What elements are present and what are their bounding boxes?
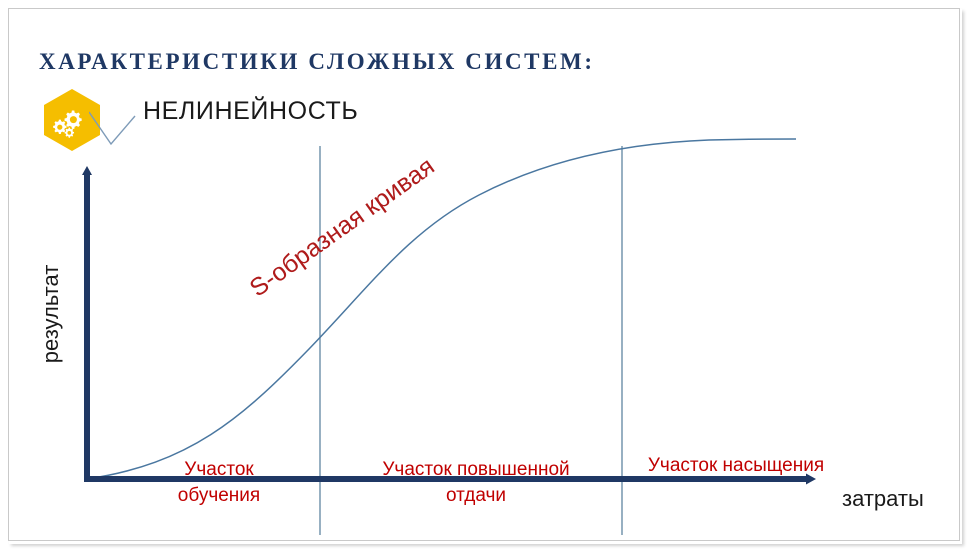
zone-label-saturation-line1: Участок насыщения [621, 453, 851, 479]
zone-label-learning-line2: обучения [119, 483, 319, 509]
y-axis-label: результат [38, 234, 64, 394]
slide-canvas: ХАРАКТЕРИСТИКИ СЛОЖНЫХ СИСТЕМ: НЕЛИНЕЙНО… [0, 0, 970, 553]
page-title: ХАРАКТЕРИСТИКИ СЛОЖНЫХ СИСТЕМ: [39, 49, 595, 75]
slide-card: ХАРАКТЕРИСТИКИ СЛОЖНЫХ СИСТЕМ: НЕЛИНЕЙНО… [8, 8, 960, 541]
s-curve [87, 139, 796, 479]
zone-label-learning: Участок обучения [119, 457, 319, 509]
feature-name-label: НЕЛИНЕЙНОСТЬ [143, 97, 358, 126]
x-axis-label: затраты [842, 486, 924, 512]
zone-label-high-return-line2: отдачи [331, 483, 621, 509]
zone-label-learning-line1: Участок [119, 457, 319, 483]
zone-label-high-return: Участок повышенной отдачи [331, 457, 621, 509]
zone-label-saturation: Участок насыщения [621, 453, 851, 479]
gears-hexagon-icon [42, 88, 102, 152]
zone-label-high-return-line1: Участок повышенной [331, 457, 621, 483]
